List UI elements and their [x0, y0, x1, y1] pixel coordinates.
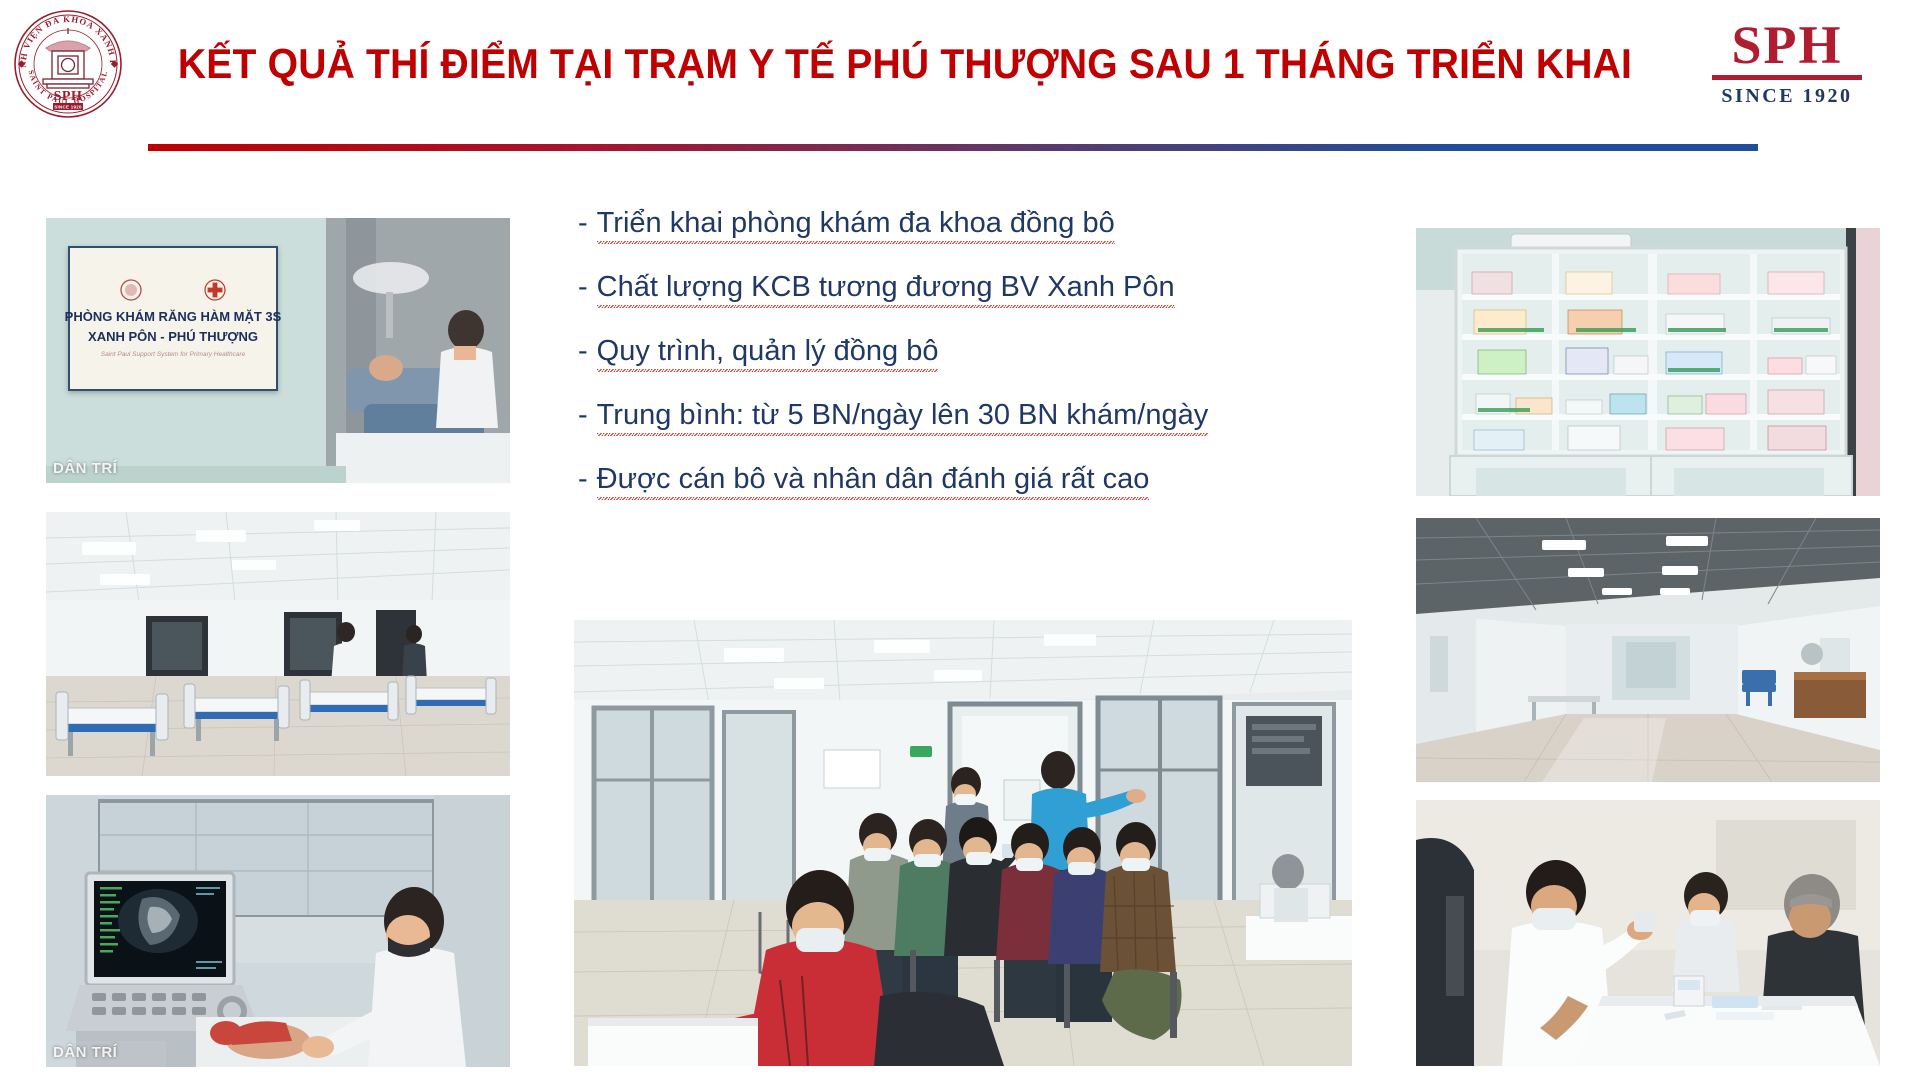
pharmacy-cabinet-photo	[1416, 228, 1880, 496]
slide-header: BỆNH VIỆN ĐA KHOA XANH PÔN SAINT PAUL HO…	[0, 0, 1920, 150]
bullet-list: - Triển khai phòng khám đa khoa đồng bô …	[578, 206, 1318, 526]
sph-wordmark-since: SINCE 1920	[1721, 85, 1852, 108]
bullet-dash: -	[578, 462, 588, 496]
bullet-dash: -	[578, 270, 588, 304]
dantri-watermark: DÂN TRÍ	[53, 460, 117, 477]
dantri-watermark: DÂN TRÍ	[53, 1044, 117, 1061]
bullet-dash: -	[578, 206, 588, 240]
hospital-seal-logo: BỆNH VIỆN ĐA KHOA XANH PÔN SAINT PAUL HO…	[12, 8, 124, 120]
dental-clinic-sign-photo: PHÒNG KHÁM RĂNG HÀM MẶT 3S XANH PÔN - PH…	[46, 218, 510, 483]
red-cross-icon	[204, 279, 226, 301]
bullet-text: Triển khai phòng khám đa khoa đồng bô	[597, 206, 1115, 244]
bullet-item: - Triển khai phòng khám đa khoa đồng bô	[578, 206, 1318, 244]
patients-waiting-room-photo	[574, 620, 1352, 1066]
sign-line-1: PHÒNG KHÁM RĂNG HÀM MẶT 3S	[65, 309, 282, 324]
bullet-dash: -	[578, 334, 588, 368]
sign-emblems	[120, 279, 226, 301]
bullet-item: - Quy trình, quản lý đồng bô	[578, 334, 1318, 372]
bullet-item: - Trung bình: từ 5 BN/ngày lên 30 BN khá…	[578, 398, 1318, 436]
government-emblem-icon	[120, 279, 142, 301]
slide-title: KẾT QUẢ THÍ ĐIỂM TẠI TRẠM Y TẾ PHÚ THƯỢN…	[194, 28, 1617, 100]
sign-line-3: Saint Paul Support System for Primary He…	[101, 351, 246, 358]
bullet-item: - Chất lượng KCB tương đương BV Xanh Pôn	[578, 270, 1318, 308]
hospital-ward-beds-photo	[46, 512, 510, 776]
slide-root: BỆNH VIỆN ĐA KHOA XANH PÔN SAINT PAUL HO…	[0, 0, 1920, 1086]
svg-text:SINCE 1920: SINCE 1920	[54, 105, 82, 110]
bullet-text: Được cán bô và nhân dân đánh giá rất cao	[597, 462, 1150, 500]
bullet-text: Quy trình, quản lý đồng bô	[597, 334, 939, 372]
sph-wordmark-letters: SPH	[1731, 18, 1842, 72]
ultrasound-examination-photo: DÂN TRÍ	[46, 795, 510, 1067]
hospital-corridor-photo	[1416, 518, 1880, 782]
sign-line-2: XANH PÔN - PHÚ THƯỢNG	[88, 329, 258, 344]
header-divider	[148, 144, 1758, 151]
svg-text:SPH: SPH	[54, 89, 83, 104]
bullet-text: Trung bình: từ 5 BN/ngày lên 30 BN khám/…	[597, 398, 1209, 436]
sph-wordmark-rule	[1712, 75, 1862, 80]
bullet-text: Chất lượng KCB tương đương BV Xanh Pôn	[597, 270, 1175, 308]
clinic-sign-board: PHÒNG KHÁM RĂNG HÀM MẶT 3S XANH PÔN - PH…	[68, 246, 278, 391]
doctor-patient-consultation-photo	[1416, 800, 1880, 1066]
bullet-dash: -	[578, 398, 588, 432]
bullet-item: - Được cán bô và nhân dân đánh giá rất c…	[578, 462, 1318, 500]
sph-wordmark-logo: SPH SINCE 1920	[1692, 18, 1882, 110]
